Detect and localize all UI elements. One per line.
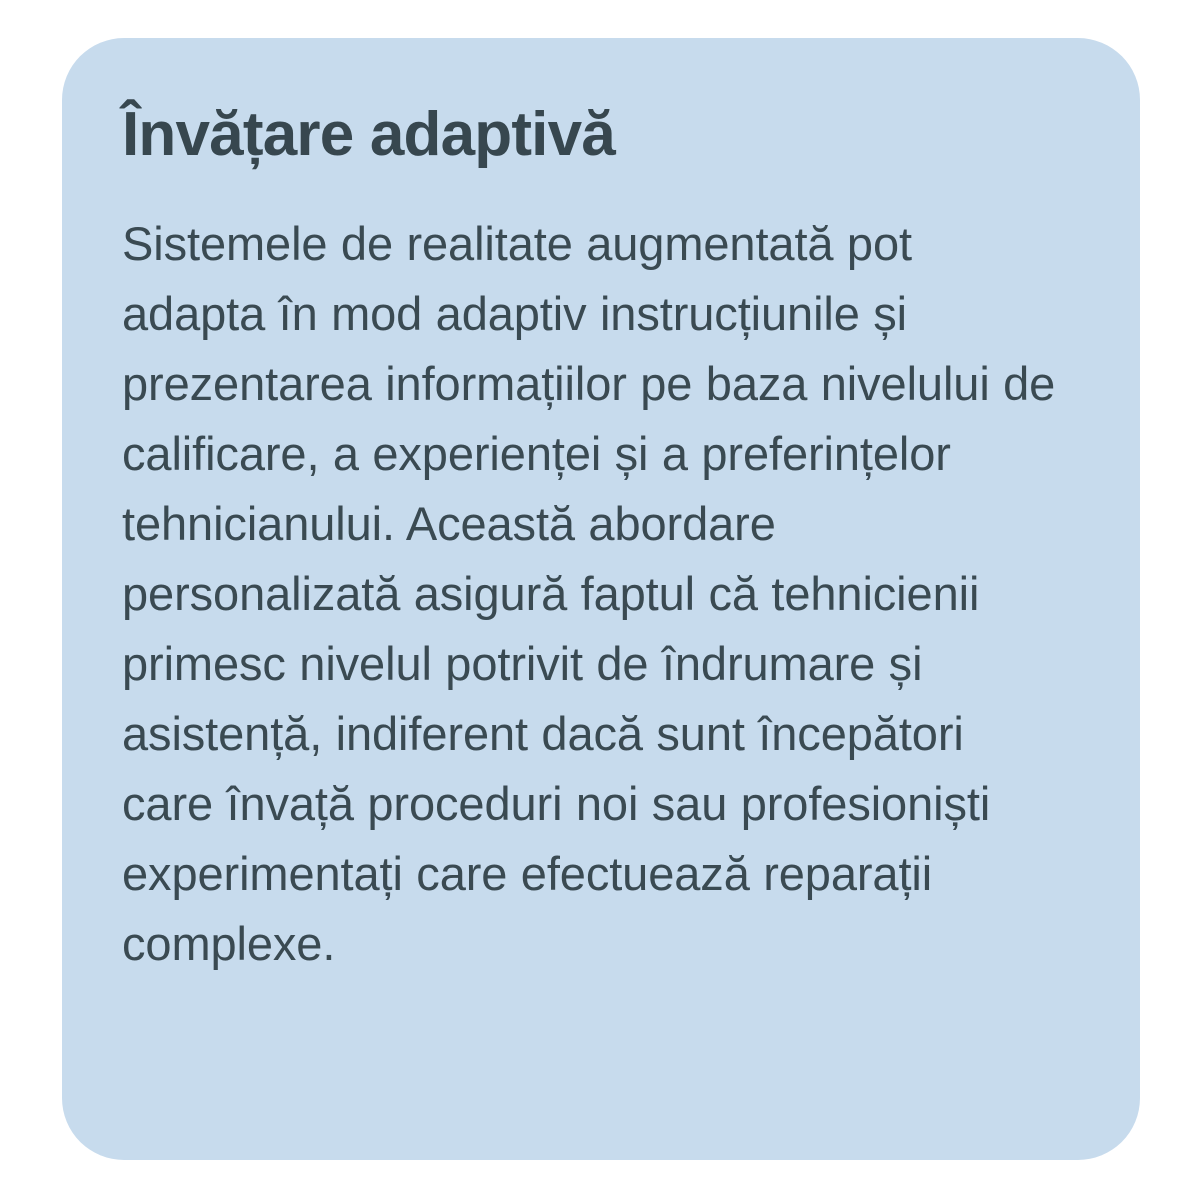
page-canvas: Învățare adaptivă Sistemele de realitate… xyxy=(0,0,1200,1200)
card-title: Învățare adaptivă xyxy=(122,100,1080,169)
card-body-text: Sistemele de realitate augmentată pot ad… xyxy=(122,209,1062,979)
info-card: Învățare adaptivă Sistemele de realitate… xyxy=(62,38,1140,1160)
